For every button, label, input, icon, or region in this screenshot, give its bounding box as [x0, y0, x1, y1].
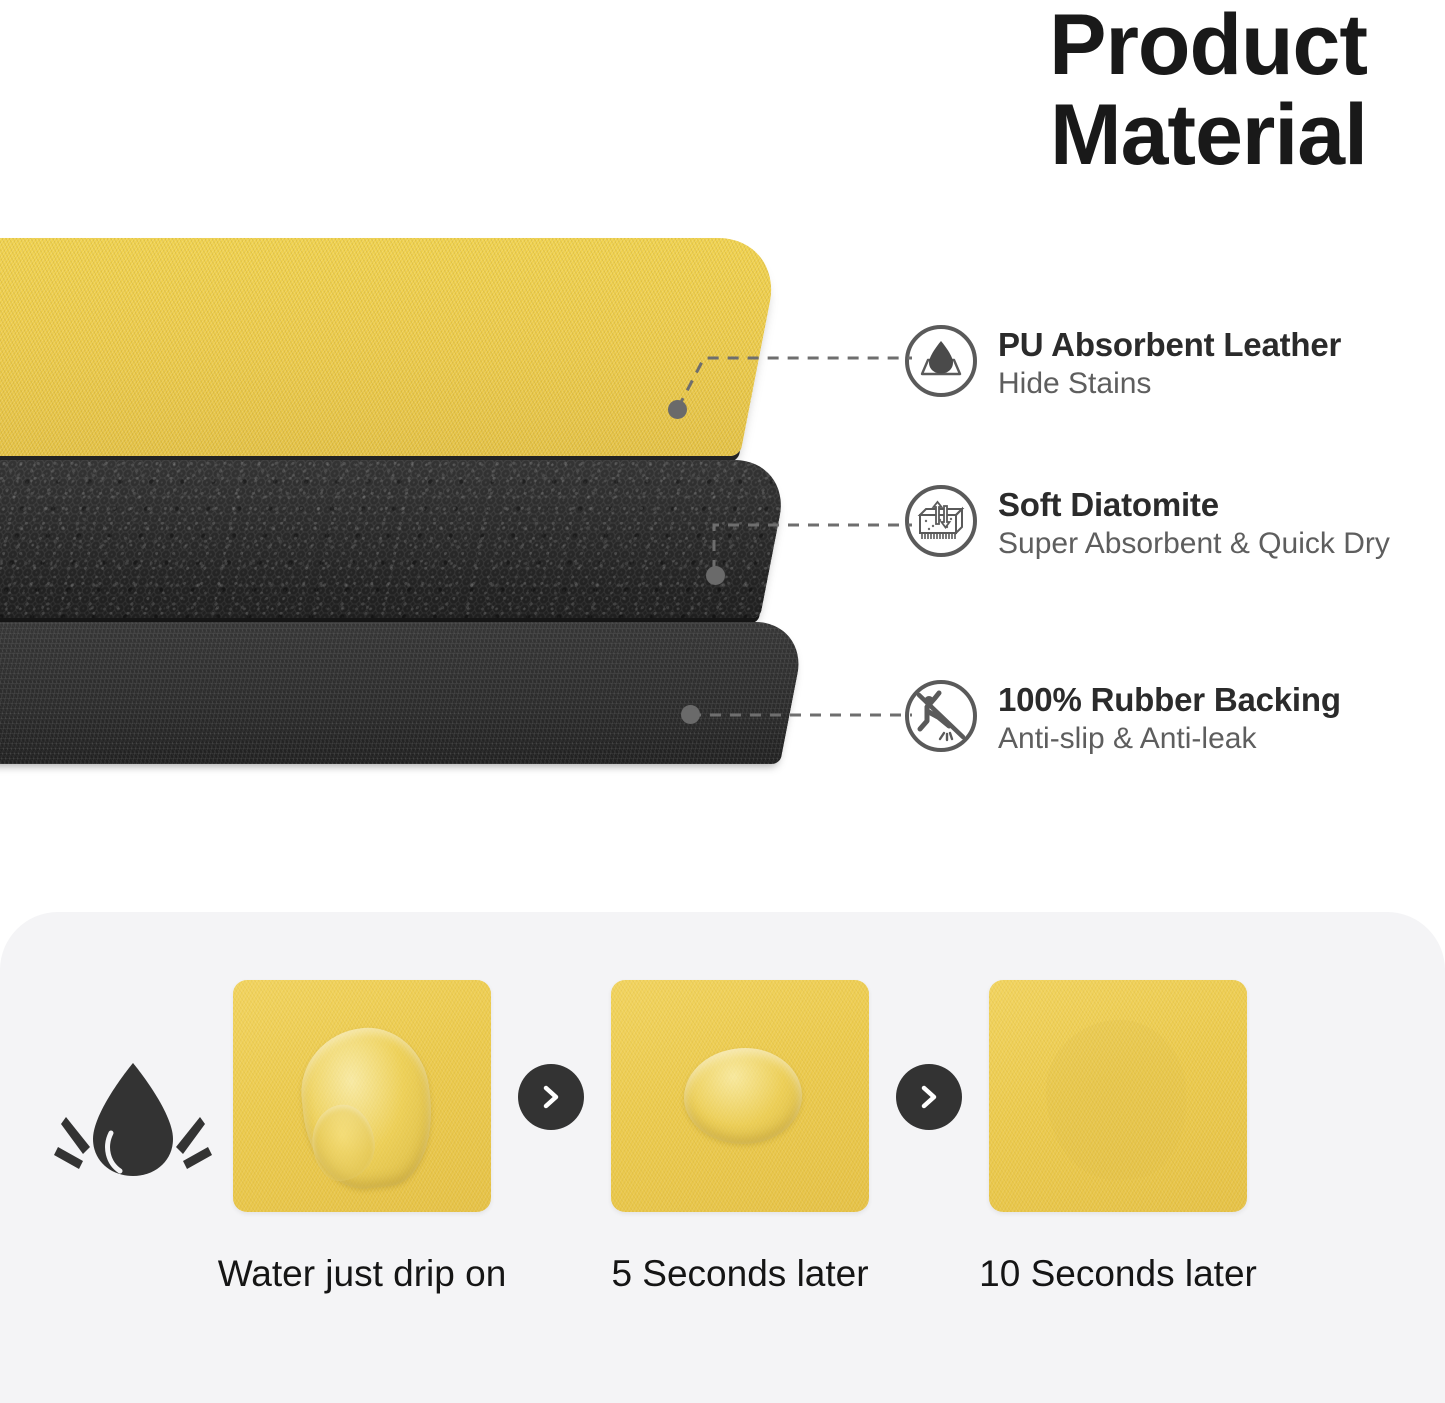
- feature-subtitle: Super Absorbent & Quick Dry: [998, 526, 1390, 562]
- page-title-line-2: Material: [847, 90, 1367, 180]
- demo-step-2: 5 Seconds later: [606, 980, 874, 1296]
- mat-layer-stack-illustration: [0, 238, 860, 768]
- water-splash-icon: [48, 1055, 218, 1205]
- demo-step-3: 10 Seconds later: [984, 980, 1252, 1296]
- swatch-5-seconds-later: [611, 980, 869, 1212]
- page-title: Product Material: [847, 0, 1367, 180]
- chevron-right-icon-1: [518, 1064, 584, 1130]
- callout-dot-rubber: [681, 705, 700, 724]
- pu-leather-layer: [0, 238, 782, 456]
- leader-line-diatomite: [710, 515, 918, 577]
- diatomite-layer: [0, 460, 791, 618]
- demo-step-1: Water just drip on: [228, 980, 496, 1296]
- chevron-right-icon-2: [896, 1064, 962, 1130]
- water-puddle-irregular: [295, 1022, 439, 1195]
- feature-text-diatomite: Soft Diatomite Super Absorbent & Quick D…: [998, 478, 1390, 562]
- feature-item-pu-leather: PU Absorbent Leather Hide Stains: [902, 318, 1445, 402]
- callout-dot-pu-leather: [668, 400, 687, 419]
- demo-step-caption: 10 Seconds later: [979, 1252, 1257, 1296]
- product-material-infographic: Product Material: [0, 0, 1445, 1403]
- leader-line-pu-leather: [672, 346, 918, 414]
- rubber-backing-layer: [0, 622, 808, 764]
- feature-text-rubber-backing: 100% Rubber Backing Anti-slip & Anti-lea…: [998, 673, 1341, 757]
- swatch-10-seconds-later: [989, 980, 1247, 1212]
- page-title-line-1: Product: [847, 0, 1367, 90]
- feature-text-pu-leather: PU Absorbent Leather Hide Stains: [998, 318, 1341, 402]
- water-damp-mark-faint: [1040, 1014, 1193, 1186]
- feature-item-rubber-backing: 100% Rubber Backing Anti-slip & Anti-lea…: [902, 673, 1445, 757]
- demo-step-caption: Water just drip on: [218, 1252, 507, 1296]
- demo-steps-row: Water just drip on 5 Seconds later 10 Se…: [228, 980, 1413, 1340]
- feature-title: Soft Diatomite: [998, 486, 1390, 524]
- feature-title: PU Absorbent Leather: [998, 326, 1341, 364]
- feature-item-diatomite: Soft Diatomite Super Absorbent & Quick D…: [902, 478, 1445, 562]
- callout-dot-diatomite: [706, 566, 725, 585]
- demo-step-caption: 5 Seconds later: [611, 1252, 868, 1296]
- feature-subtitle: Anti-slip & Anti-leak: [998, 721, 1341, 757]
- feature-title: 100% Rubber Backing: [998, 681, 1341, 719]
- swatch-water-drip-on: [233, 980, 491, 1212]
- leader-line-rubber: [686, 706, 918, 724]
- water-bead-round: [684, 1048, 802, 1144]
- feature-subtitle: Hide Stains: [998, 366, 1341, 402]
